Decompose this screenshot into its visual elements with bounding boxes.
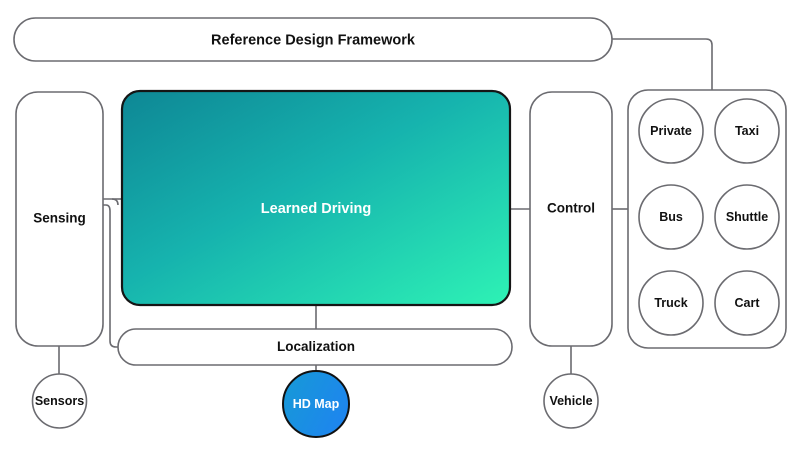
vehicle-type-item[interactable]: Private <box>639 99 703 163</box>
reference-design-framework-banner[interactable]: Reference Design Framework <box>14 18 612 61</box>
diagram-canvas: Reference Design Framework Sensing Learn… <box>0 0 800 450</box>
vehicle-label: Vehicle <box>549 394 592 408</box>
vehicle-type-item[interactable]: Truck <box>639 271 703 335</box>
connector-sensing-to-localization <box>103 205 122 347</box>
control-label: Control <box>547 201 595 216</box>
reference-design-framework-diagram: Reference Design Framework Sensing Learn… <box>0 0 800 450</box>
vehicle-type-item[interactable]: Taxi <box>715 99 779 163</box>
learned-driving-label: Learned Driving <box>261 201 371 217</box>
vehicle-type-label: Truck <box>654 296 687 310</box>
node-localization[interactable]: Localization <box>118 329 512 365</box>
vehicle-type-label: Taxi <box>735 124 759 138</box>
node-vehicle[interactable]: Vehicle <box>544 374 598 428</box>
node-sensors[interactable]: Sensors <box>33 374 87 428</box>
vehicle-type-label: Shuttle <box>726 210 768 224</box>
connector-framework-to-vehicle-types <box>612 39 712 90</box>
node-sensing[interactable]: Sensing <box>16 92 103 346</box>
connector-sensing-to-learned-driving <box>103 199 118 205</box>
vehicle-type-item[interactable]: Bus <box>639 185 703 249</box>
vehicle-type-item[interactable]: Cart <box>715 271 779 335</box>
sensing-label: Sensing <box>33 211 86 226</box>
banner-label: Reference Design Framework <box>211 32 416 48</box>
vehicle-type-label: Bus <box>659 210 683 224</box>
vehicle-type-label: Cart <box>734 296 760 310</box>
vehicle-types-container: Private Taxi Bus Shuttle Truck Cart <box>628 90 786 348</box>
sensors-label: Sensors <box>35 394 84 408</box>
node-hd-map[interactable]: HD Map <box>283 371 349 437</box>
vehicle-type-label: Private <box>650 124 692 138</box>
localization-label: Localization <box>277 339 355 354</box>
control-shape <box>530 92 612 346</box>
vehicle-type-item[interactable]: Shuttle <box>715 185 779 249</box>
node-control[interactable]: Control <box>530 92 612 346</box>
node-learned-driving[interactable]: Learned Driving <box>122 91 510 305</box>
learned-driving-shape <box>122 91 510 305</box>
hd-map-label: HD Map <box>293 397 340 411</box>
